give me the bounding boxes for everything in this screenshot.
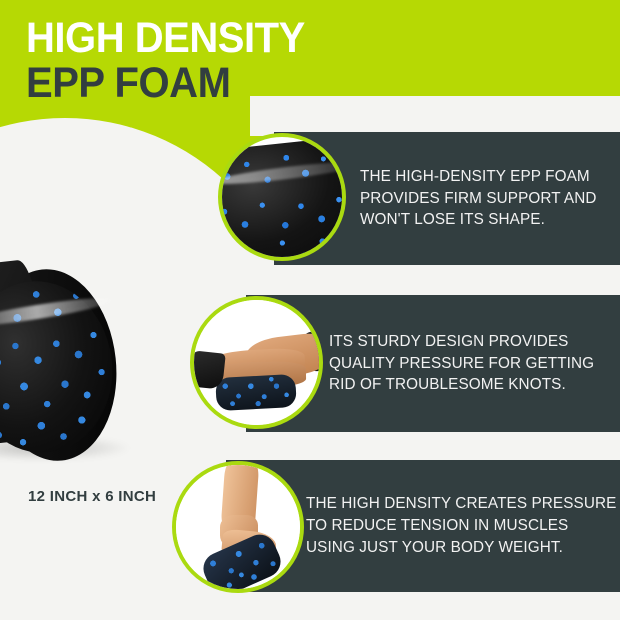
feature-2-text: ITS STURDY DESIGN PROVIDES QUALITY PRESS… bbox=[329, 331, 594, 396]
feature-3-text: THE HIGH DENSITY CREATES PRESSURE TO RED… bbox=[306, 493, 616, 558]
legs-on-roller-photo bbox=[190, 296, 323, 429]
circle-2-image-inner bbox=[194, 300, 319, 425]
foot-on-roller-photo bbox=[172, 461, 304, 593]
title-line-2: EPP FOAM bbox=[26, 63, 305, 105]
page-title: HIGH DENSITY EPP FOAM bbox=[26, 18, 326, 104]
product-size-label: 12 INCH x 6 INCH bbox=[28, 488, 156, 505]
foam-roller-product-photo bbox=[0, 265, 172, 465]
circle-3-image-inner bbox=[176, 465, 300, 589]
foam-texture-body bbox=[218, 135, 346, 261]
roller-under-legs bbox=[215, 374, 297, 411]
circle-1-image-inner bbox=[222, 137, 342, 257]
foam-texture-closeup-photo bbox=[218, 133, 346, 261]
product-infographic: HIGH DENSITY EPP FOAM THE HIGH-DENSITY E… bbox=[0, 0, 620, 620]
title-line-1: HIGH DENSITY bbox=[26, 18, 305, 60]
feature-1-text: THE HIGH-DENSITY EPP FOAM PROVIDES FIRM … bbox=[360, 166, 597, 231]
